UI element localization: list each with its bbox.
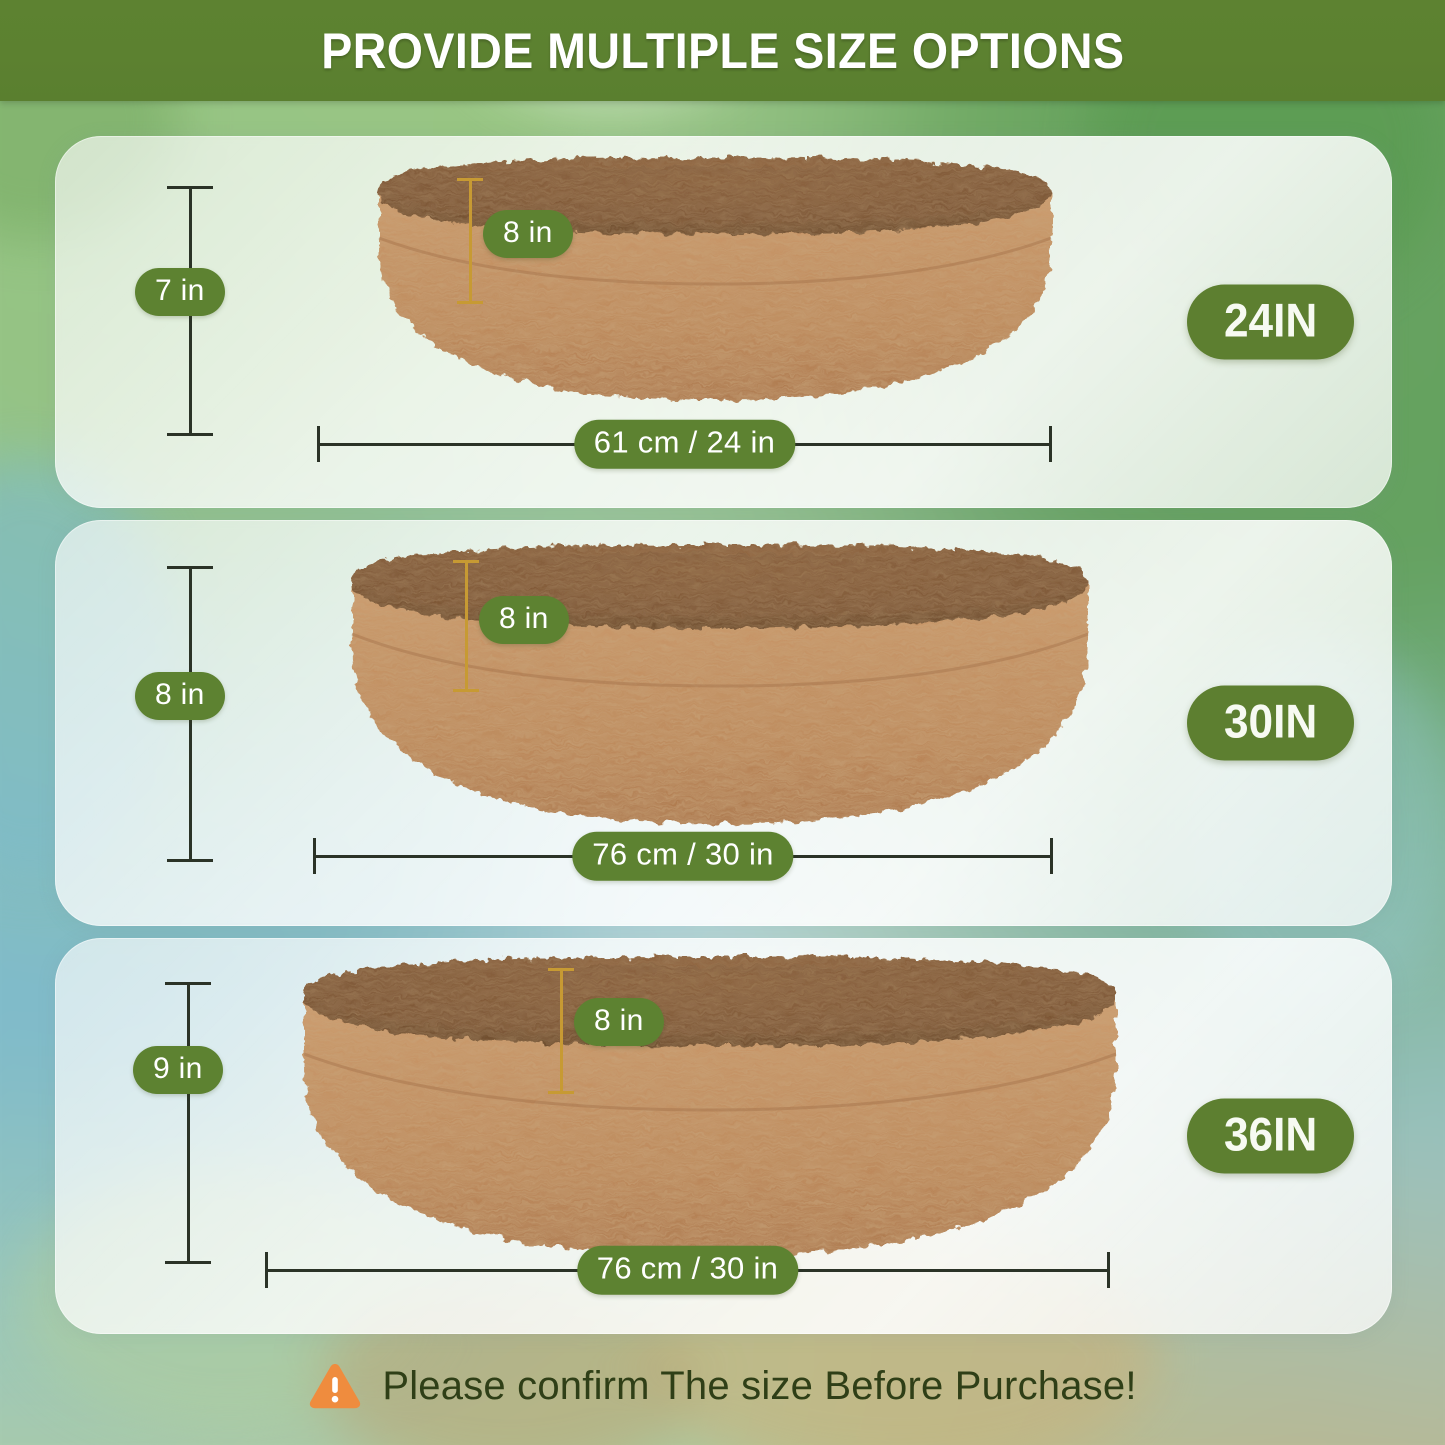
dimension-cap-bottom	[167, 433, 213, 436]
depth-badge-24in: 8 in	[483, 210, 573, 258]
width-dimension-24in: 61 cm / 24 in	[317, 424, 1052, 464]
dimension-cap-right	[1107, 1252, 1110, 1288]
height-badge-24in: 7 in	[135, 268, 225, 316]
dimension-cap-bottom	[167, 859, 213, 862]
dimension-cap-bottom	[165, 1261, 211, 1264]
warning-triangle-icon	[308, 1361, 362, 1411]
width-badge-36in: 76 cm / 30 in	[577, 1246, 798, 1295]
dimension-line	[560, 968, 563, 1094]
product-image-36in	[260, 950, 1160, 1270]
depth-dimension-line-24in	[457, 178, 483, 304]
dimension-cap-bottom	[548, 1091, 574, 1094]
height-badge-30in: 8 in	[135, 672, 225, 720]
depth-badge-36in: 8 in	[574, 998, 664, 1046]
size-badge-30in[interactable]: 30IN	[1187, 686, 1354, 761]
height-badge-36in: 9 in	[133, 1046, 223, 1094]
infographic-stage: PROVIDE MULTIPLE SIZE OPTIONS	[0, 0, 1445, 1445]
product-image-30in	[310, 538, 1130, 838]
size-badge-36in[interactable]: 36IN	[1187, 1099, 1354, 1174]
size-badge-24in[interactable]: 24IN	[1187, 285, 1354, 360]
height-dimension-line	[165, 982, 211, 1264]
depth-dimension-line-36in	[548, 968, 574, 1094]
dimension-cap-right	[1049, 426, 1052, 462]
size-card-36in[interactable]: 9 in 8 in 76 cm / 30	[55, 938, 1392, 1334]
size-card-24in[interactable]: 7 in 8 in 61 cm / 24	[55, 136, 1392, 508]
dimension-line	[465, 560, 468, 692]
width-badge-30in: 76 cm / 30 in	[572, 832, 793, 881]
width-badge-24in: 61 cm / 24 in	[574, 420, 795, 469]
depth-badge-30in: 8 in	[479, 596, 569, 644]
dimension-cap-bottom	[453, 689, 479, 692]
page-title: PROVIDE MULTIPLE SIZE OPTIONS	[321, 22, 1124, 80]
width-dimension-36in: 76 cm / 30 in	[265, 1250, 1110, 1290]
size-card-30in[interactable]: 8 in 8 in 76 cm / 30	[55, 520, 1392, 926]
dimension-cap-bottom	[457, 301, 483, 304]
dimension-line	[187, 982, 190, 1264]
header-banner: PROVIDE MULTIPLE SIZE OPTIONS	[0, 0, 1445, 101]
dimension-cap-right	[1050, 838, 1053, 874]
dimension-line	[469, 178, 472, 304]
width-dimension-30in: 76 cm / 30 in	[313, 836, 1053, 876]
footer-text: Please confirm The size Before Purchase!	[382, 1364, 1136, 1409]
depth-dimension-line-30in	[453, 560, 479, 692]
footer-note: Please confirm The size Before Purchase!	[0, 1361, 1445, 1411]
product-image-24in	[335, 152, 1095, 412]
